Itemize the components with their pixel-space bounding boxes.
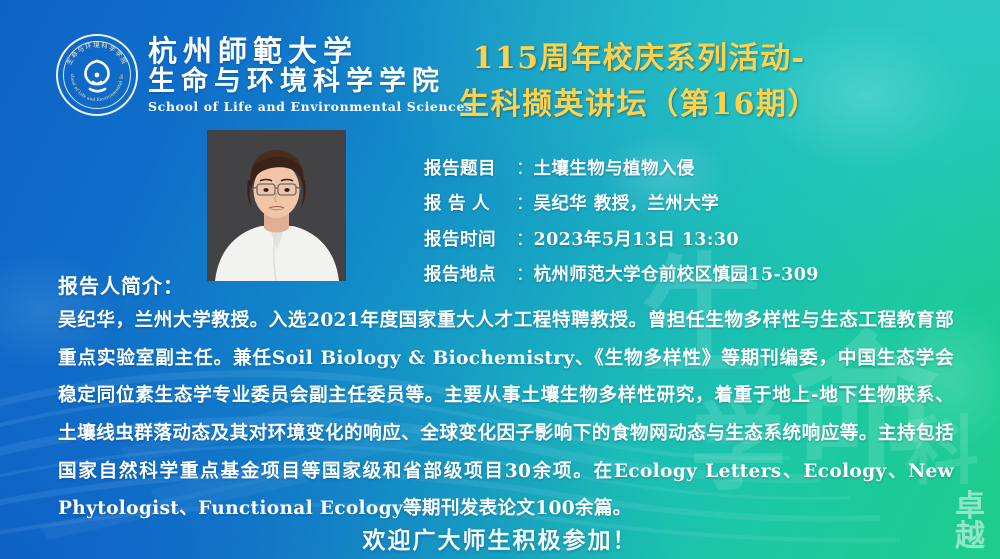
bio-heading: 报告人简介：: [58, 270, 954, 302]
school-logo: 生命与环境科学学院 School of Life and Environment…: [56, 34, 473, 116]
info-row: 报告时间 ： 2023年5月13日 13:30: [424, 223, 819, 258]
title-line-2: 生科撷英讲坛（第16期）: [424, 82, 854, 128]
info-label: 报告人: [424, 187, 516, 222]
info-row: 报告题目 ： 土壤生物与植物入侵: [424, 152, 819, 187]
poster-title: 115周年校庆系列活动- 生科撷英讲坛（第16期）: [424, 36, 854, 127]
info-separator: ：: [516, 187, 534, 222]
bio-body: 吴纪华，兰州大学教授。入选2021年度国家重大人才工程特聘教授。曾担任生物多样性…: [58, 302, 954, 527]
poster-footer: 欢迎广大师生积极参加！: [0, 521, 1000, 555]
info-separator: ：: [516, 223, 534, 258]
info-separator: ：: [516, 152, 534, 187]
school-emblem-icon: 生命与环境科学学院 School of Life and Environment…: [56, 34, 138, 116]
seminar-poster: 生 命 学 科 卓 越 生命与环境科学学院 School of: [0, 0, 1000, 559]
info-value: 土壤生物与植物入侵: [534, 152, 695, 187]
info-label: 报告题目: [424, 152, 516, 187]
info-value: 2023年5月13日 13:30: [534, 223, 739, 258]
info-label: 报告时间: [424, 223, 516, 258]
footer-invitation-text: 欢迎广大师生积极参加！: [363, 521, 638, 555]
speaker-portrait: [207, 130, 346, 281]
emblem-core-mark: [73, 51, 121, 99]
title-line-1: 115周年校庆系列活动-: [424, 36, 854, 82]
speaker-bio: 报告人简介： 吴纪华，兰州大学教授。入选2021年度国家重大人才工程特聘教授。曾…: [58, 270, 954, 528]
info-value: 吴纪华 教授，兰州大学: [534, 187, 720, 222]
info-row: 报告人 ： 吴纪华 教授，兰州大学: [424, 187, 819, 222]
